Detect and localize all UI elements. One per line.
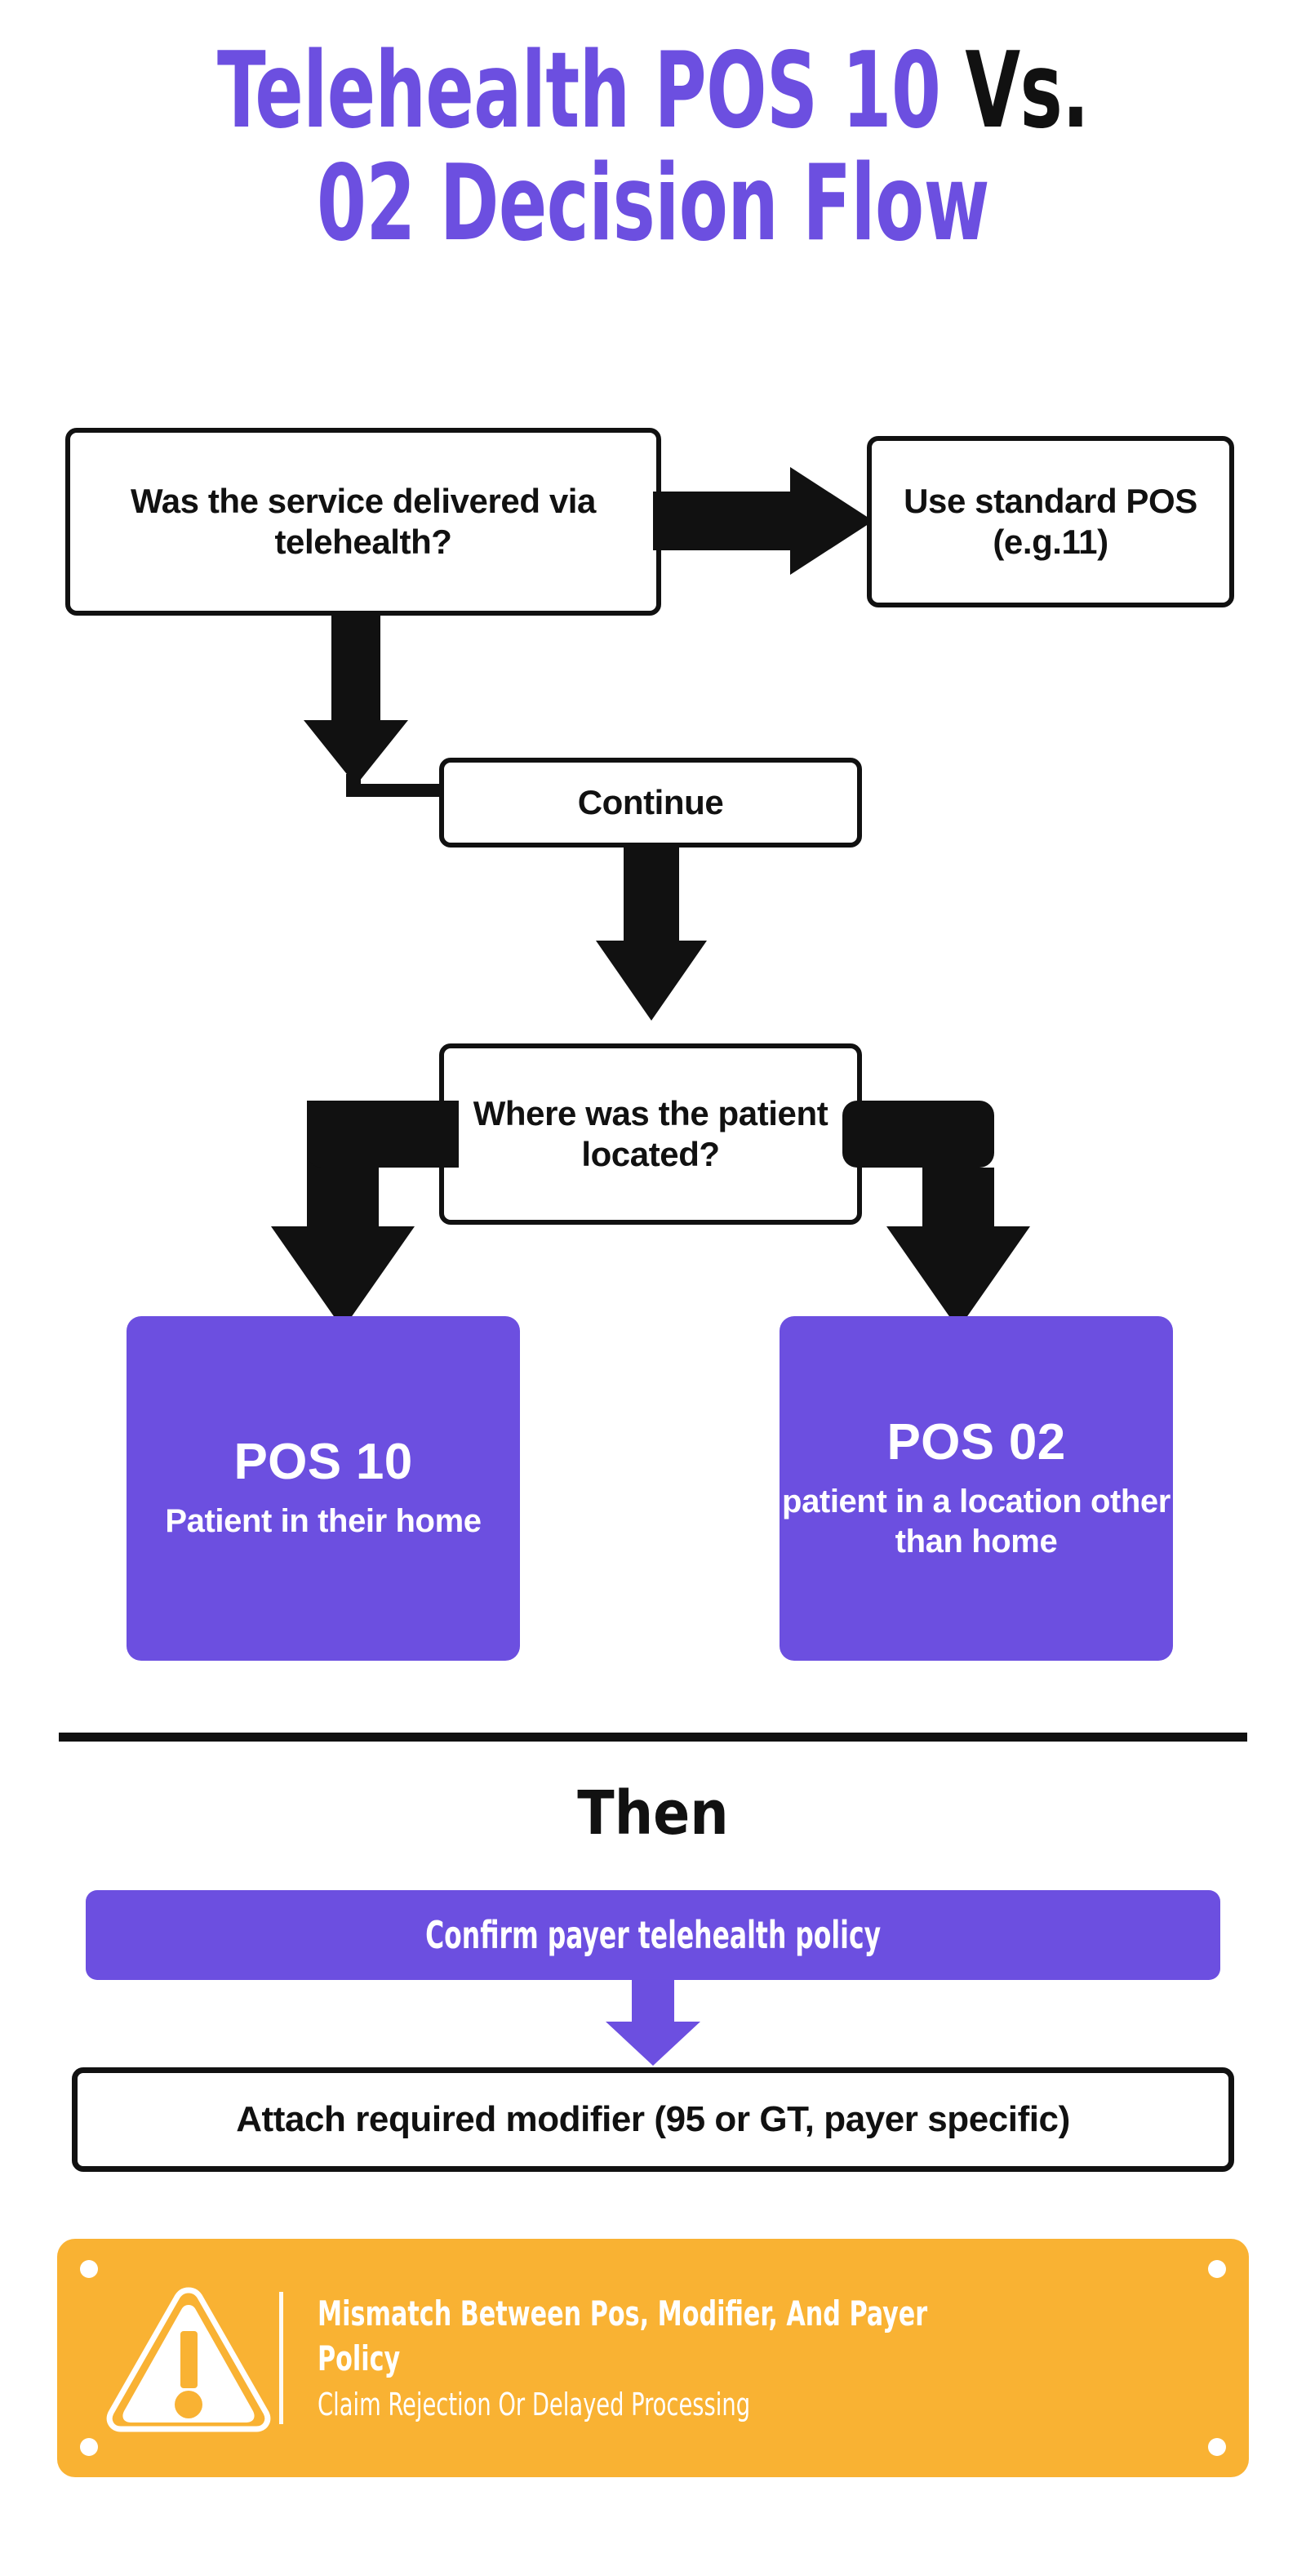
title-line-2: 02 Decision Flow [157,152,1149,256]
screw-hole-bottom-right-icon [1208,2438,1226,2456]
flow-node-continue-label: Continue [563,782,739,823]
outcome-node-standard-pos[interactable]: Use standard POS (e.g.11) [867,436,1234,607]
title-part-purple: Telehealth POS 10 [217,30,965,152]
section-heading-then: Then [0,1778,1306,1849]
warning-text-block: Mismatch Between Pos, Modifier, And Paye… [318,2291,1249,2425]
arrow-down-purple-to-modifier-icon [606,1979,700,2066]
warning-heading: Mismatch Between Pos, Modifier, And Paye… [318,2291,944,2382]
title-line-1: Telehealth POS 10 Vs. [157,39,1149,144]
title-part-black: Vs. [965,30,1089,152]
step-confirm-payer-policy-label: Confirm payer telehealth policy [425,1913,881,1957]
arrow-elbow-right-to-pos02-icon [842,1086,1038,1329]
warning-divider [279,2292,283,2424]
result-node-pos10-content: POS 10 Patient in their home [127,1435,520,1542]
infographic-canvas: Telehealth POS 10 Vs. 02 Decision Flow W… [0,0,1306,2576]
decision-node-service-telehealth-label: Was the service delivered via telehealth… [70,481,656,562]
warning-subtext: Claim Rejection Or Delayed Processing [318,2385,750,2425]
arrow-down-to-location-question-icon [596,846,707,1021]
section-divider [59,1733,1247,1742]
decision-node-patient-location[interactable]: Where was the patient located? [439,1043,862,1225]
result-node-pos10-code: POS 10 [127,1435,520,1488]
screw-hole-top-right-icon [1208,2260,1226,2278]
result-node-pos10-description: Patient in their home [127,1502,520,1542]
page-title: Telehealth POS 10 Vs. 02 Decision Flow [0,39,1306,256]
arrow-elbow-left-to-pos10-icon [263,1086,459,1329]
step-attach-modifier-label: Attach required modifier (95 or GT, paye… [236,2099,1070,2140]
decision-node-patient-location-label: Where was the patient located? [444,1093,857,1174]
warning-triangle-icon [103,2280,274,2436]
result-node-pos02-description: patient in a location other than home [780,1482,1173,1562]
arrow-right-to-standard-pos-icon [653,467,873,575]
result-node-pos02-code: POS 02 [780,1416,1173,1469]
result-node-pos02[interactable]: POS 02 patient in a location other than … [780,1316,1173,1661]
step-confirm-payer-policy[interactable]: Confirm payer telehealth policy [86,1890,1220,1980]
screw-hole-bottom-left-icon [80,2438,98,2456]
warning-banner: Mismatch Between Pos, Modifier, And Paye… [57,2239,1249,2477]
flow-node-continue[interactable]: Continue [439,758,862,848]
outcome-node-standard-pos-label: Use standard POS (e.g.11) [872,481,1229,562]
step-attach-modifier[interactable]: Attach required modifier (95 or GT, paye… [72,2067,1234,2172]
result-node-pos02-content: POS 02 patient in a location other than … [780,1416,1173,1562]
section-heading-then-label: Then [577,1778,728,1849]
screw-hole-top-left-icon [80,2260,98,2278]
result-node-pos10[interactable]: POS 10 Patient in their home [127,1316,520,1661]
decision-node-service-telehealth[interactable]: Was the service delivered via telehealth… [65,428,661,616]
